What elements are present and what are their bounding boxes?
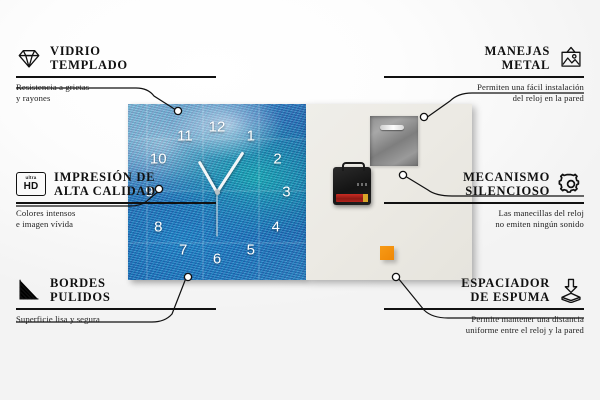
feature-desc-line2: y rayones <box>16 93 216 105</box>
feature-desc-line2: e imagen vívida <box>16 219 216 231</box>
feature-title: VIDRIO TEMPLADO <box>50 44 128 72</box>
feature-title: MANEJAS METAL <box>485 44 550 72</box>
feature-espaciador-espuma[interactable]: ESPACIADOR DE ESPUMA Permite mantener un… <box>384 276 584 337</box>
feature-heading-row: BORDES PULIDOS <box>16 276 216 304</box>
feature-title-line2: SILENCIOSO <box>463 184 550 198</box>
feature-title-line2: METAL <box>485 58 550 72</box>
feature-desc-line1: Resistencia a grietas <box>16 82 216 94</box>
gear-icon <box>558 171 584 197</box>
feature-desc-line1: Superficie lisa y segura <box>16 314 216 326</box>
feature-title-line2: DE ESPUMA <box>461 290 550 304</box>
feature-title-line2: ALTA CALIDAD <box>54 184 156 198</box>
feature-heading-row: ultra HD IMPRESIÓN DE ALTA CALIDAD <box>16 170 216 198</box>
feature-mecanismo-silencioso[interactable]: MECANISMO SILENCIOSO Las manecillas del … <box>384 170 584 231</box>
feature-divider <box>384 76 584 78</box>
feature-title: MECANISMO SILENCIOSO <box>463 170 550 198</box>
feature-divider <box>16 308 216 310</box>
feature-title-line1: MECANISMO <box>463 170 550 184</box>
ultra-hd-icon: ultra HD <box>16 172 46 196</box>
feature-description: Superficie lisa y segura <box>16 314 216 326</box>
feature-desc-line2: uniforme entre el reloj y la pared <box>384 325 584 337</box>
feature-title-line1: VIDRIO <box>50 44 128 58</box>
feature-vidrio-templado[interactable]: VIDRIO TEMPLADO Resistencia a grietas y … <box>16 44 216 105</box>
feature-title-line1: IMPRESIÓN DE <box>54 170 156 184</box>
infographic-canvas: 12 1 2 3 4 5 6 7 8 9 10 11 <box>0 0 600 400</box>
feature-description: Permiten una fácil instalación del reloj… <box>384 82 584 105</box>
feature-description: Permite mantener una distancia uniforme … <box>384 314 584 337</box>
feature-bordes-pulidos[interactable]: BORDES PULIDOS Superficie lisa y segura <box>16 276 216 325</box>
feature-title: IMPRESIÓN DE ALTA CALIDAD <box>54 170 156 198</box>
feature-description: Las manecillas del reloj no emiten ningú… <box>384 208 584 231</box>
feature-divider <box>384 202 584 204</box>
feature-desc-line2: del reloj en la pared <box>384 93 584 105</box>
feature-title-line1: MANEJAS <box>485 44 550 58</box>
connector-dot-vidrio-templado <box>174 107 181 114</box>
feature-divider <box>16 76 216 78</box>
feature-desc-line1: Las manecillas del reloj <box>384 208 584 220</box>
feature-title-line2: PULIDOS <box>50 290 110 304</box>
feature-title-line1: BORDES <box>50 276 110 290</box>
connector-dot-manejas <box>420 113 427 120</box>
feature-divider <box>384 308 584 310</box>
feature-manejas-metal[interactable]: MANEJAS METAL Permiten una fácil instala… <box>384 44 584 105</box>
feature-desc-line1: Permiten una fácil instalación <box>384 82 584 94</box>
ultra-hd-large-text: HD <box>24 182 39 192</box>
diamond-icon <box>16 45 42 71</box>
framed-picture-icon <box>558 45 584 71</box>
arrow-down-pad-icon <box>558 277 584 303</box>
feature-title: BORDES PULIDOS <box>50 276 110 304</box>
beveled-edge-icon <box>16 277 42 303</box>
feature-heading-row: ESPACIADOR DE ESPUMA <box>384 276 584 304</box>
feature-impresion-alta-calidad[interactable]: ultra HD IMPRESIÓN DE ALTA CALIDAD Color… <box>16 170 216 231</box>
feature-desc-line1: Permite mantener una distancia <box>384 314 584 326</box>
feature-description: Colores intensos e imagen vívida <box>16 208 216 231</box>
feature-heading-row: MANEJAS METAL <box>384 44 584 72</box>
feature-title-line2: TEMPLADO <box>50 58 128 72</box>
feature-divider <box>16 202 216 204</box>
feature-heading-row: MECANISMO SILENCIOSO <box>384 170 584 198</box>
feature-desc-line2: no emiten ningún sonido <box>384 219 584 231</box>
feature-title-line1: ESPACIADOR <box>461 276 550 290</box>
feature-description: Resistencia a grietas y rayones <box>16 82 216 105</box>
feature-title: ESPACIADOR DE ESPUMA <box>461 276 550 304</box>
feature-heading-row: VIDRIO TEMPLADO <box>16 44 216 72</box>
feature-desc-line1: Colores intensos <box>16 208 216 220</box>
